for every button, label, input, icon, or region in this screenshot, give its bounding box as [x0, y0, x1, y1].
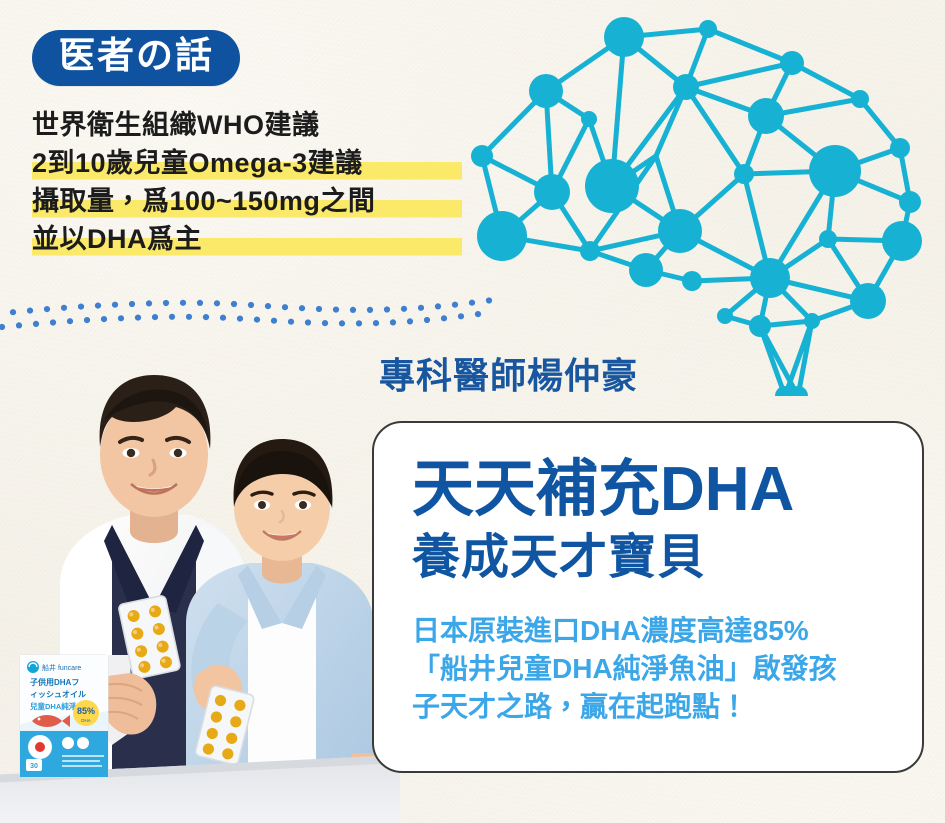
doctor-talk-badge: 医者の話 — [32, 30, 240, 86]
banner-root: 医者の話 世界衛生組織WHO建議 2到10歲兒童Omega-3建議 攝取量，爲1… — [0, 0, 945, 823]
svg-text:船井 funcare: 船井 funcare — [42, 663, 81, 672]
doctor-and-child-photo: 船井 funcare 子供用DHAフ ィッシュオイル 兒童DHA純淨魚油 85%… — [0, 355, 400, 823]
who-line-2: 2到10歲兒童Omega-3建議 — [32, 144, 462, 182]
neural-network-brain-icon — [440, 0, 945, 396]
promo-subcopy-line3: 子天才之路，贏在起跑點！ — [412, 688, 912, 726]
who-statement-block: 世界衛生組織WHO建議 2到10歲兒童Omega-3建議 攝取量，爲100~15… — [32, 106, 462, 258]
promo-subcopy-line1: 日本原裝進口DHA濃度高達85% — [412, 612, 912, 650]
svg-text:ィッシュオイル: ィッシュオイル — [30, 690, 86, 699]
who-line-3: 攝取量，爲100~150mg之間 — [32, 182, 462, 220]
promo-subcopy: 日本原裝進口DHA濃度高達85% 「船井兒童DHA純淨魚油」啟發孩 子天才之路，… — [412, 612, 912, 726]
promo-subcopy-line2: 「船井兒童DHA純淨魚油」啟發孩 — [412, 650, 912, 688]
svg-text:子供用DHAフ: 子供用DHAフ — [30, 677, 79, 687]
doctor-credit-label: 專科醫師楊仲豪 — [379, 357, 638, 395]
svg-text:85%: 85% — [77, 706, 95, 716]
who-line-4: 並以DHA爲主 — [32, 220, 462, 258]
dotted-wave-divider-top — [0, 296, 494, 322]
dotted-wave-divider-bottom — [0, 308, 494, 334]
svg-text:DHA: DHA — [81, 718, 91, 723]
who-line-1: 世界衛生組織WHO建議 — [32, 106, 462, 144]
promo-headline-line2: 養成天才寶貝 — [412, 534, 706, 582]
svg-text:30: 30 — [30, 763, 38, 770]
promo-headline-line1: 天天補充DHA — [412, 459, 794, 521]
